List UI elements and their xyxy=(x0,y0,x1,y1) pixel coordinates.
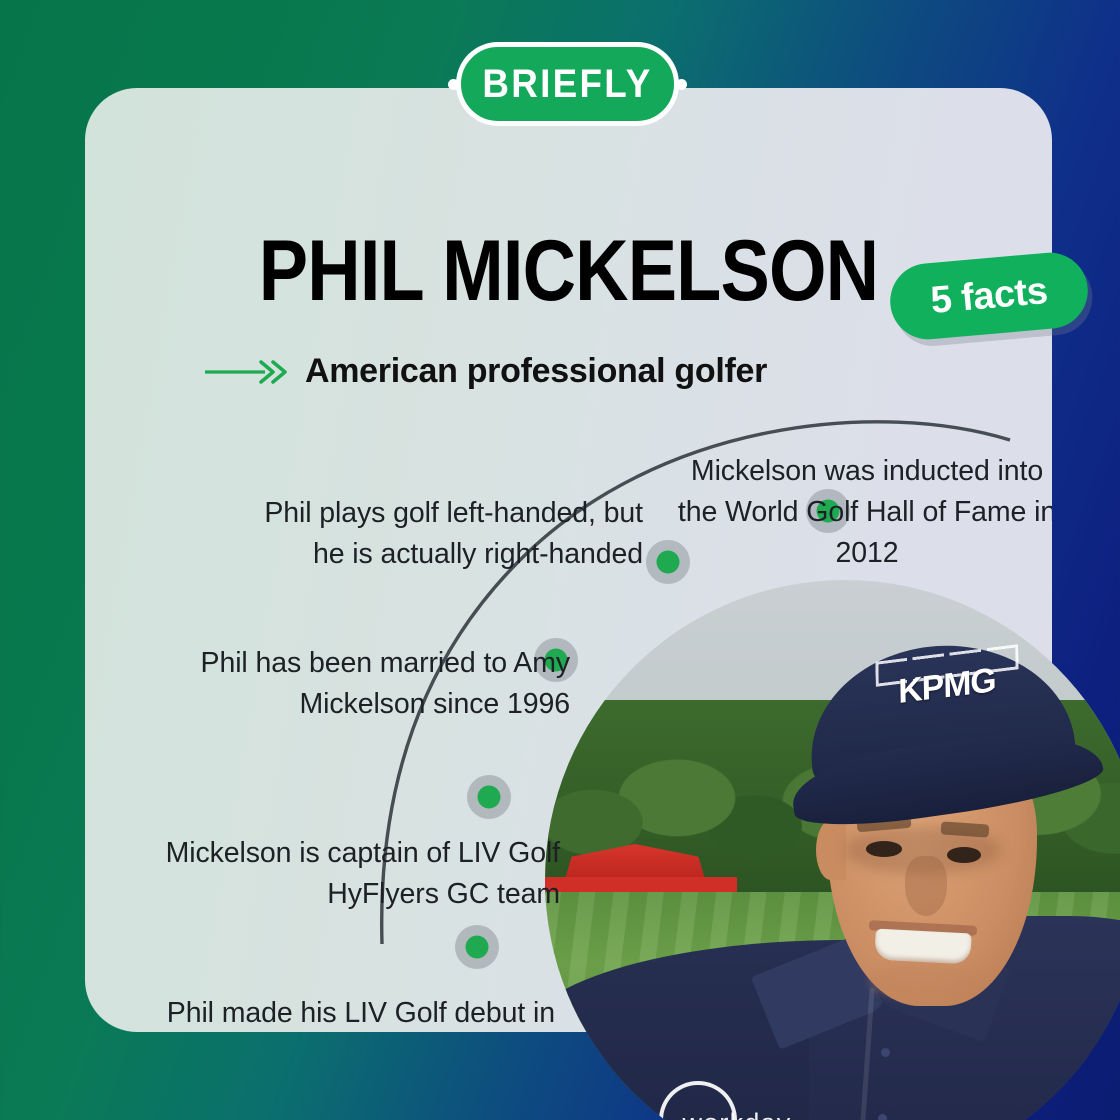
photo-ear xyxy=(816,820,846,880)
subtitle-row: American professional golfer xyxy=(203,352,767,391)
photo-chin xyxy=(869,964,977,1000)
subject-photo: workday KPMG xyxy=(545,580,1120,1120)
photo-scene: workday KPMG xyxy=(545,580,1120,1120)
bullet-dot-right-icon xyxy=(676,79,687,90)
fact-item-4: Mickelson is captain of LIV Golf HyFlyer… xyxy=(140,833,560,915)
brand-name: BRIEFLY xyxy=(482,62,652,107)
photo-nose xyxy=(905,856,947,916)
arc-marker-4 xyxy=(467,775,511,819)
long-arrow-right-double-chevron-icon xyxy=(203,359,289,385)
photo-button-top xyxy=(881,1048,890,1057)
photo-red-banner xyxy=(545,877,737,893)
brand-badge: BRIEFLY xyxy=(456,42,679,126)
photo-teeth xyxy=(874,929,972,965)
fact-item-3: Phil has been married to Amy Mickelson s… xyxy=(170,643,570,725)
fact-item-5: Phil made his LIV Golf debut in 2022 xyxy=(140,993,555,1032)
fact-item-2: Mickelson was inducted into the World Go… xyxy=(671,451,1052,573)
fact-item-1: Phil plays golf left-handed, but he is a… xyxy=(235,493,643,575)
facts-count-label: 5 facts xyxy=(929,269,1049,322)
workday-logo-text: workday xyxy=(617,1108,857,1120)
bullet-dot-left-icon xyxy=(448,79,459,90)
photo-button-bottom xyxy=(878,1114,887,1120)
subtitle-text: American professional golfer xyxy=(305,352,767,391)
photo-eye-right xyxy=(947,847,981,863)
arc-marker-5 xyxy=(455,925,499,969)
photo-eye-left xyxy=(866,841,902,857)
page-title: PHIL MICKELSON xyxy=(153,228,985,314)
